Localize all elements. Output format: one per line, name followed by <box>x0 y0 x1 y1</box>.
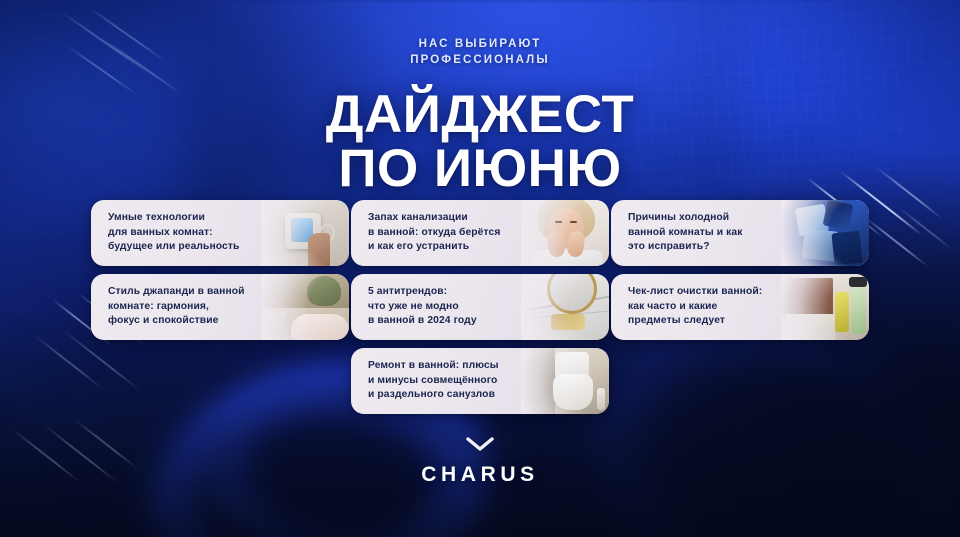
article-card-renovation[interactable]: Ремонт в ванной: плюсы и минусы совмещён… <box>351 348 609 414</box>
title-line-1: ДАЙДЖЕСТ <box>326 85 634 144</box>
article-card-title: Запах канализации в ванной: откуда берёт… <box>351 211 506 255</box>
card-slot: Умные технологии для ванных комнат: буду… <box>91 200 349 266</box>
article-card-title: Ремонт в ванной: плюсы и минусы совмещён… <box>351 359 505 403</box>
slide-canvas: НАС ВЫБИРАЮТ ПРОФЕССИОНАЛЫ ДАЙДЖЕСТ ПО И… <box>0 0 960 537</box>
card-line: это исправить? <box>628 240 743 255</box>
card-slot: Ремонт в ванной: плюсы и минусы совмещён… <box>351 348 609 414</box>
card-line: для ванных комнат: <box>108 226 239 241</box>
card-slot: Чек-лист очистки ванной: как часто и как… <box>611 274 869 340</box>
card-line: Стиль джапанди в ванной <box>108 285 245 300</box>
card-row-1: Умные технологии для ванных комнат: буду… <box>0 200 960 266</box>
card-line: Ремонт в ванной: плюсы <box>368 359 499 374</box>
card-line: Умные технологии <box>108 211 239 226</box>
card-line: предметы следует <box>628 314 762 329</box>
card-slot: 5 антитрендов: что уже не модно в ванной… <box>351 274 609 340</box>
card-line: комнате: гармония, <box>108 300 245 315</box>
article-card-title: Стиль джапанди в ванной комнате: гармони… <box>91 285 251 329</box>
article-card-title: 5 антитрендов: что уже не модно в ванной… <box>351 285 483 329</box>
card-line: Причины холодной <box>628 211 743 226</box>
article-card-grid: Умные технологии для ванных комнат: буду… <box>0 200 960 414</box>
card-line: и раздельного санузлов <box>368 388 499 403</box>
kicker-line-2: ПРОФЕССИОНАЛЫ <box>0 52 960 68</box>
card-line: и как его устранить <box>368 240 500 255</box>
article-card-sewer-smell[interactable]: Запах канализации в ванной: откуда берёт… <box>351 200 609 266</box>
card-slot: Стиль джапанди в ванной комнате: гармони… <box>91 274 349 340</box>
round-mirror-marble-photo <box>521 274 609 340</box>
article-card-cold-bathroom[interactable]: Причины холодной ванной комнаты и как эт… <box>611 200 869 266</box>
article-card-anti-trends[interactable]: 5 антитрендов: что уже не модно в ванной… <box>351 274 609 340</box>
kicker-text: НАС ВЫБИРАЮТ ПРОФЕССИОНАЛЫ <box>0 36 960 68</box>
article-card-title: Умные технологии для ванных комнат: буду… <box>91 211 245 255</box>
card-row-2: Стиль джапанди в ванной комнате: гармони… <box>0 274 960 340</box>
smart-thermostat-photo <box>261 200 349 266</box>
card-line: в ванной: откуда берётся <box>368 226 500 241</box>
card-line: как часто и какие <box>628 300 762 315</box>
slide-header: НАС ВЫБИРАЮТ ПРОФЕССИОНАЛЫ ДАЙДЖЕСТ ПО И… <box>0 36 960 196</box>
card-line: 5 антитрендов: <box>368 285 477 300</box>
article-card-smart-tech[interactable]: Умные технологии для ванных комнат: буду… <box>91 200 349 266</box>
brand-logo: CHARUS <box>0 463 960 487</box>
card-line: Запах канализации <box>368 211 500 226</box>
card-row-3: Ремонт в ванной: плюсы и минусы совмещён… <box>0 348 960 414</box>
card-line: ванной комнаты и как <box>628 226 743 241</box>
article-card-japandi-style[interactable]: Стиль джапанди в ванной комнате: гармони… <box>91 274 349 340</box>
card-line: фокус и спокойствие <box>108 314 245 329</box>
card-line: в ванной в 2024 году <box>368 314 477 329</box>
page-title: ДАЙДЖЕСТ ПО ИЮНЮ <box>0 88 960 196</box>
kicker-line-1: НАС ВЫБИРАЮТ <box>0 36 960 52</box>
card-slot: Причины холодной ванной комнаты и как эт… <box>611 200 869 266</box>
article-card-title: Чек-лист очистки ванной: как часто и как… <box>611 285 768 329</box>
card-line: и минусы совмещённого <box>368 374 499 389</box>
card-slot: Запах канализации в ванной: откуда берёт… <box>351 200 609 266</box>
slide-footer: CHARUS <box>0 436 960 487</box>
card-line: что уже не модно <box>368 300 477 315</box>
card-line: будущее или реальность <box>108 240 239 255</box>
article-card-title: Причины холодной ванной комнаты и как эт… <box>611 211 749 255</box>
woman-holding-nose-photo <box>521 200 609 266</box>
japandi-bathtub-photo <box>261 274 349 340</box>
toilet-photo <box>521 348 609 414</box>
ice-cubes-photo <box>781 200 869 266</box>
card-line: Чек-лист очистки ванной: <box>628 285 762 300</box>
spray-bottles-photo <box>781 274 869 340</box>
chevron-down-icon <box>465 436 495 453</box>
article-card-cleaning-checklist[interactable]: Чек-лист очистки ванной: как часто и как… <box>611 274 869 340</box>
title-line-2: ПО ИЮНЮ <box>0 142 960 196</box>
